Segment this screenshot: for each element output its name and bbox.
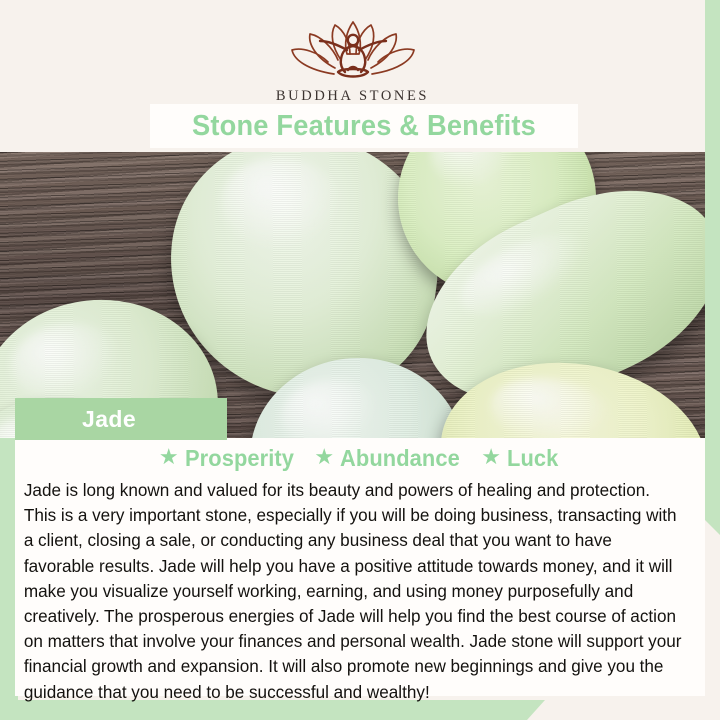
decorative-ribbon-right: [704, 0, 720, 535]
stone-photo: [0, 152, 705, 438]
stone-description: Jade is long known and valued for its be…: [15, 473, 695, 705]
star-icon: ★: [159, 446, 179, 468]
lotus-meditation-icon: [278, 14, 428, 86]
page-title: Stone Features & Benefits: [192, 110, 536, 143]
stone-name-bar: Jade: [15, 398, 227, 440]
keyword-list: ★ Prosperity ★ Abundance ★ Luck: [15, 438, 705, 473]
keyword-label: Prosperity: [185, 445, 294, 472]
keyword-label: Luck: [507, 445, 558, 472]
star-icon: ★: [314, 446, 334, 468]
infographic-card: BUDDHA STONES Stone Features & Benefits …: [0, 0, 720, 720]
keyword-label: Abundance: [340, 445, 460, 472]
content-panel: ★ Prosperity ★ Abundance ★ Luck Jade is …: [15, 438, 705, 696]
brand-wordmark: BUDDHA STONES: [0, 88, 705, 105]
brand-logo: BUDDHA STONES: [0, 14, 705, 105]
keyword-luck: ★ Luck: [481, 445, 561, 472]
title-band: Stone Features & Benefits: [150, 104, 578, 148]
keyword-prosperity: ★ Prosperity: [159, 445, 300, 472]
stone-name-label: Jade: [15, 406, 136, 433]
keyword-abundance: ★ Abundance: [314, 445, 466, 472]
star-icon: ★: [481, 446, 501, 468]
